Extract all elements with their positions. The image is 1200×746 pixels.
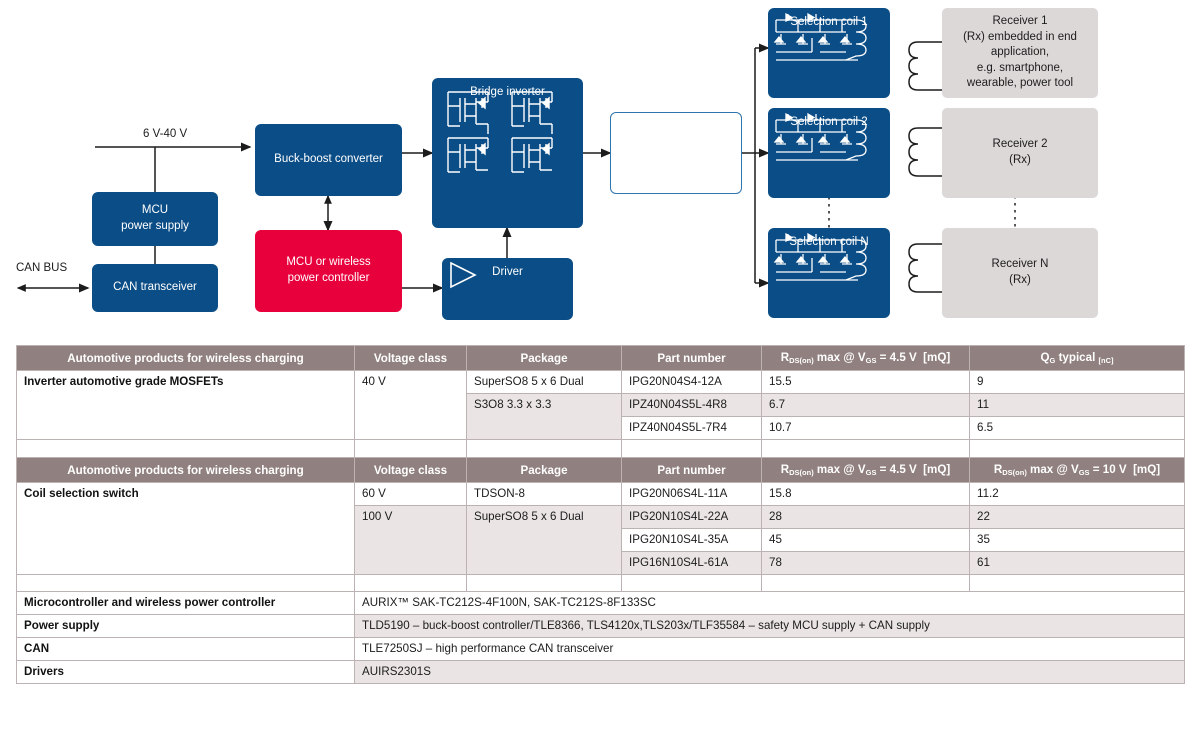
- footer-value-power-supply: TLD5190 – buck-boost controller/TLE8366,…: [355, 615, 1185, 638]
- header-voltage-class-2: Voltage class: [355, 458, 467, 483]
- cell-rdson-10v: 61: [970, 552, 1185, 575]
- spacer-cell: [970, 440, 1185, 458]
- table-row-drivers: Drivers AUIRS2301S: [17, 661, 1185, 684]
- header-rdson-45v-1: RDS(on) max @ VGS = 4.5 V [mQ]: [762, 346, 970, 371]
- footer-label-drivers: Drivers: [17, 661, 355, 684]
- header-qg-typical: QG typical [nC]: [970, 346, 1185, 371]
- receiver-coil-n: [909, 244, 945, 292]
- block-mcu-or-wireless-power-controller[interactable]: MCU or wireless power controller: [255, 230, 402, 312]
- table-header-row-1: Automotive products for wireless chargin…: [17, 346, 1185, 371]
- cell-qg: 11: [970, 394, 1185, 417]
- table-spacer-row: [17, 440, 1185, 458]
- receiver-coil-2: [909, 128, 945, 176]
- block-driver[interactable]: Driver: [442, 258, 573, 320]
- cell-qg: 6.5: [970, 417, 1185, 440]
- spacer-cell: [355, 440, 467, 458]
- block-receiver-1[interactable]: Receiver 1 (Rx) embedded in end applicat…: [942, 8, 1098, 98]
- footer-value-can: TLE7250SJ – high performance CAN transce…: [355, 638, 1185, 661]
- header-part-number-1: Part number: [622, 346, 762, 371]
- cell-voltage-class-100v: 100 V: [355, 506, 467, 575]
- table-row-microcontroller: Microcontroller and wireless power contr…: [17, 592, 1185, 615]
- spacer-cell: [17, 575, 355, 592]
- cell-qg: 9: [970, 371, 1185, 394]
- cell-rdson-45v: 28: [762, 506, 970, 529]
- footer-value-microcontroller: AURIX™ SAK-TC212S-4F100N, SAK-TC212S-8F1…: [355, 592, 1185, 615]
- cell-rdson-45v: 78: [762, 552, 970, 575]
- block-selection-coil-1[interactable]: Selection coil 1: [768, 8, 890, 98]
- block-can-transceiver[interactable]: CAN transceiver: [92, 264, 218, 312]
- footer-label-power-supply: Power supply: [17, 615, 355, 638]
- cell-rdson-45v: 6.7: [762, 394, 970, 417]
- cell-part-number: IPG20N10S4L-22A: [622, 506, 762, 529]
- cell-part-number: IPG16N10S4L-61A: [622, 552, 762, 575]
- selection-coil-n-schematic: [768, 228, 880, 290]
- spacer-cell: [17, 440, 355, 458]
- selection-coil-1-schematic: [768, 8, 880, 70]
- table-row: Coil selection switch 60 V TDSON-8 IPG20…: [17, 483, 1185, 506]
- header-package-2: Package: [467, 458, 622, 483]
- spacer-cell: [762, 440, 970, 458]
- cell-part-number: IPG20N04S4-12A: [622, 371, 762, 394]
- block-selection-coil-n[interactable]: Selection coil N: [768, 228, 890, 318]
- cell-voltage-class-60v: 60 V: [355, 483, 467, 506]
- block-receiver-2[interactable]: Receiver 2 (Rx): [942, 108, 1098, 198]
- input-voltage-label: 6 V-40 V: [143, 128, 187, 140]
- row-label-coil-selection-switch: Coil selection switch: [17, 483, 355, 575]
- spacer-cell: [762, 575, 970, 592]
- page-root: 6 V-40 V CAN BUS MCU power supply CAN tr…: [0, 0, 1200, 746]
- footer-value-drivers: AUIRS2301S: [355, 661, 1185, 684]
- footer-label-microcontroller: Microcontroller and wireless power contr…: [17, 592, 355, 615]
- receiver-coil-1: [909, 42, 945, 90]
- selection-coil-2-schematic: [768, 108, 880, 170]
- spacer-cell: [970, 575, 1185, 592]
- header-products-2: Automotive products for wireless chargin…: [17, 458, 355, 483]
- cell-package-tdson8: TDSON-8: [467, 483, 622, 506]
- table-spacer-row: [17, 575, 1185, 592]
- spacer-cell: [467, 440, 622, 458]
- cell-rdson-10v: 35: [970, 529, 1185, 552]
- cell-rdson-45v: 15.8: [762, 483, 970, 506]
- block-diagram: 6 V-40 V CAN BUS MCU power supply CAN tr…: [0, 0, 1200, 340]
- cell-voltage-class-40v: 40 V: [355, 371, 467, 440]
- spacer-cell: [622, 575, 762, 592]
- footer-label-can: CAN: [17, 638, 355, 661]
- ellipsis-dots: [829, 196, 1015, 228]
- table-row-power-supply: Power supply TLD5190 – buck-boost contro…: [17, 615, 1185, 638]
- driver-label: Driver: [492, 258, 523, 281]
- cell-rdson-45v: 10.7: [762, 417, 970, 440]
- header-rdson-45v-2: RDS(on) max @ VGS = 4.5 V [mQ]: [762, 458, 970, 483]
- product-table-wrapper: Automotive products for wireless chargin…: [16, 345, 1184, 684]
- amplifier-triangle-icon: [442, 260, 482, 290]
- cell-rdson-45v: 15.5: [762, 371, 970, 394]
- spacer-cell: [467, 575, 622, 592]
- row-label-inverter-mosfets: Inverter automotive grade MOSFETs: [17, 371, 355, 440]
- header-voltage-class-1: Voltage class: [355, 346, 467, 371]
- block-buck-boost-converter[interactable]: Buck-boost converter: [255, 124, 402, 196]
- cell-part-number: IPG20N06S4L-11A: [622, 483, 762, 506]
- cell-part-number: IPZ40N04S5L-7R4: [622, 417, 762, 440]
- block-receiver-n[interactable]: Receiver N (Rx): [942, 228, 1098, 318]
- block-bridge-inverter[interactable]: Bridge inverter: [432, 78, 583, 228]
- table-row: Inverter automotive grade MOSFETs 40 V S…: [17, 371, 1185, 394]
- cell-package-supersO8: SuperSO8 5 x 6 Dual: [467, 371, 622, 394]
- can-bus-label: CAN BUS: [16, 262, 67, 274]
- cell-rdson-45v: 45: [762, 529, 970, 552]
- block-selection-coil-2[interactable]: Selection coil 2: [768, 108, 890, 198]
- bridge-inverter-schematic: [432, 82, 572, 187]
- spacer-cell: [355, 575, 467, 592]
- cell-package-supersO8-dual: SuperSO8 5 x 6 Dual: [467, 506, 622, 575]
- header-part-number-2: Part number: [622, 458, 762, 483]
- cell-rdson-10v: 22: [970, 506, 1185, 529]
- spacer-cell: [622, 440, 762, 458]
- table-header-row-2: Automotive products for wireless chargin…: [17, 458, 1185, 483]
- header-rdson-10v: RDS(on) max @ VGS = 10 V [mQ]: [970, 458, 1185, 483]
- header-products-1: Automotive products for wireless chargin…: [17, 346, 355, 371]
- header-package-1: Package: [467, 346, 622, 371]
- cell-part-number: IPZ40N04S5L-4R8: [622, 394, 762, 417]
- cell-part-number: IPG20N10S4L-35A: [622, 529, 762, 552]
- cell-package-s3o8: S3O8 3.3 x 3.3: [467, 394, 622, 440]
- cell-rdson-10v: 11.2: [970, 483, 1185, 506]
- block-mcu-power-supply[interactable]: MCU power supply: [92, 192, 218, 246]
- block-lc-filter[interactable]: [610, 112, 742, 194]
- table-row-can: CAN TLE7250SJ – high performance CAN tra…: [17, 638, 1185, 661]
- product-table: Automotive products for wireless chargin…: [16, 345, 1185, 684]
